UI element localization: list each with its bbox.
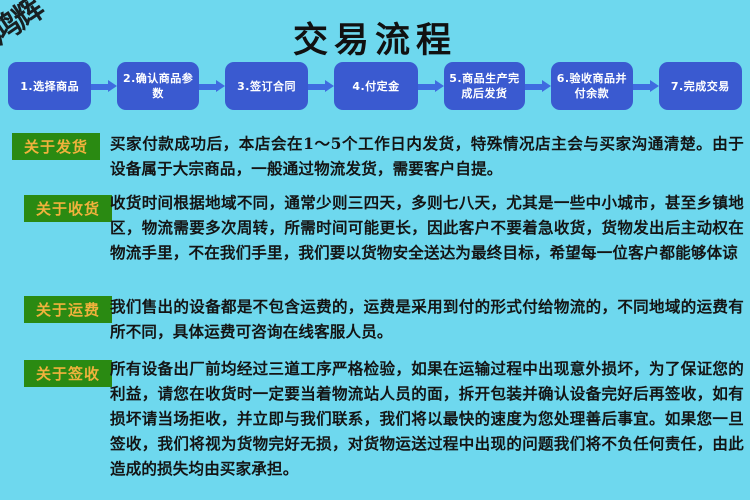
flow-step-2[interactable]: 2.确认商品参数 (117, 62, 198, 110)
page-title: 交易流程 (0, 12, 750, 63)
section-tag-freight: 关于运费 (24, 296, 112, 323)
flow-step-7[interactable]: 7.完成交易 (659, 62, 742, 110)
flow-arrow-icon (91, 80, 117, 92)
flow-step-1[interactable]: 1.选择商品 (8, 62, 91, 110)
process-flowchart: 1.选择商品 2.确认商品参数 3.签订合同 4.付定金 5.商品生产完成后发货… (8, 60, 742, 112)
flow-arrow-icon (525, 80, 551, 92)
flow-step-3[interactable]: 3.签订合同 (225, 62, 308, 110)
flow-arrow-icon (308, 80, 334, 92)
flow-step-5[interactable]: 5.商品生产完成后发货 (444, 62, 525, 110)
flow-arrow-icon (633, 80, 659, 92)
flow-arrow-icon (418, 80, 444, 92)
flow-step-4[interactable]: 4.付定金 (334, 62, 417, 110)
flow-step-6[interactable]: 6.验收商品并付余款 (551, 62, 632, 110)
flow-arrow-icon (199, 80, 225, 92)
section-body-shipping: 买家付款成功后，本店会在1～5个工作日内发货，特殊情况店主会与买家沟通清楚。由于… (110, 131, 744, 181)
section-body-freight: 我们售出的设备都是不包含运费的，运费是采用到付的形式付给物流的，不同地域的运费有… (110, 294, 744, 344)
section-body-receiving: 收货时间根据地域不同，通常少则三四天，多则七八天，尤其是一些中小城市，甚至乡镇地… (110, 190, 744, 265)
section-tag-shipping: 关于发货 (12, 133, 100, 160)
section-body-signing: 所有设备出厂前均经过三道工序严格检验，如果在运输过程中出现意外损坏，为了保证您的… (110, 356, 744, 481)
section-tag-signing: 关于签收 (24, 360, 112, 387)
section-tag-receiving: 关于收货 (24, 195, 112, 222)
